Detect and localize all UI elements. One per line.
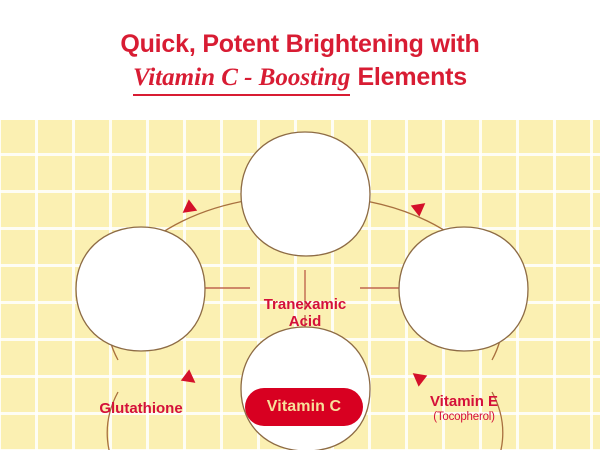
diagram-panel: Tranexamic Acid Glutathione Vitamin E (T… xyxy=(0,120,600,450)
page-title-line-1: Quick, Potent Brightening with xyxy=(120,30,479,59)
page-title-line-2: Vitamin C - BoostingElements xyxy=(133,62,467,96)
node-glutathione-text: Glutathione xyxy=(99,401,182,418)
node-tranexamic-sublabel: Acid xyxy=(264,314,347,331)
bubble-vitamin-e xyxy=(399,227,528,351)
node-tranexamic-text: Tranexamic Acid xyxy=(264,297,347,331)
infographic-root: Quick, Potent Brightening with Vitamin C… xyxy=(0,0,600,450)
node-vitamin-e[interactable]: Vitamin E (Tocopherol) xyxy=(400,348,528,450)
node-vitamin-e-label: Vitamin E xyxy=(430,394,498,411)
bubble-glutathione xyxy=(76,227,205,351)
page-title-emphasis: Vitamin C - Boosting xyxy=(133,63,350,96)
page-title-tail: Elements xyxy=(357,62,467,92)
center-node-label: Vitamin C xyxy=(267,398,341,416)
title-block: Quick, Potent Brightening with Vitamin C… xyxy=(0,0,600,120)
node-tranexamic[interactable]: Tranexamic Acid xyxy=(241,253,369,375)
node-tranexamic-label: Tranexamic xyxy=(264,297,347,314)
bubble-tranexamic xyxy=(241,132,370,256)
node-vitamin-e-text: Vitamin E (Tocopherol) xyxy=(430,394,498,425)
node-glutathione[interactable]: Glutathione xyxy=(77,348,205,450)
arrow-top-right-icon xyxy=(411,198,430,217)
node-glutathione-label: Glutathione xyxy=(99,401,182,418)
node-vitamin-e-sublabel: (Tocopherol) xyxy=(430,411,498,424)
center-node-vitamin-c[interactable]: Vitamin C xyxy=(245,388,363,426)
